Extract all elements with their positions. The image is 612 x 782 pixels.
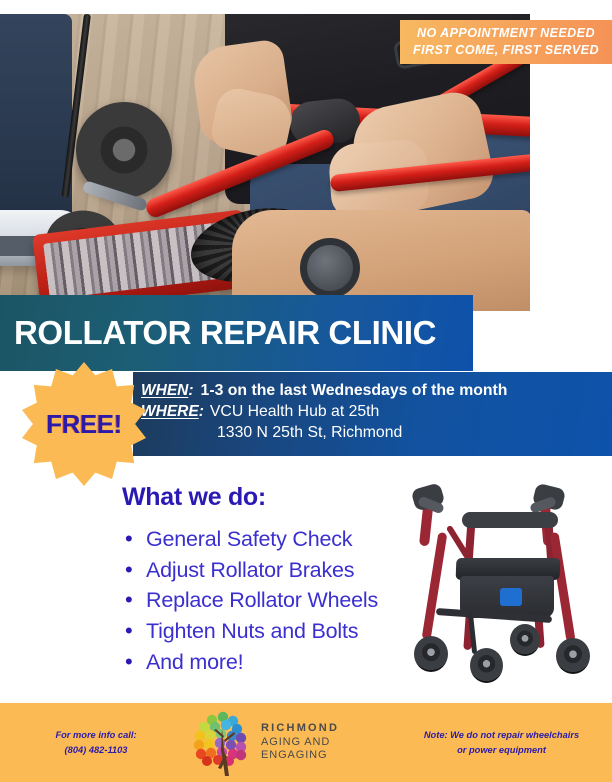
rollator-wheel-1 — [414, 636, 448, 672]
where-address: 1330 N 25th St, Richmond — [141, 423, 612, 444]
where-label: WHERE — [141, 402, 199, 422]
services-heading: What we do: — [122, 483, 422, 512]
rollator-backrest — [462, 512, 558, 528]
contact-block: For more info call: (804) 482-1103 — [0, 728, 192, 758]
rollator-leg-front-left — [422, 532, 448, 640]
photo-wristwatch — [300, 238, 360, 298]
note-line-1: Note: We do not repair wheelchairs — [397, 728, 606, 743]
rollator-wheel-2 — [470, 648, 503, 683]
rollator-wheel-4 — [556, 638, 590, 674]
organization-logo: RICHMOND AGING AND ENGAGING — [192, 710, 397, 776]
tree-logo-icon — [192, 710, 254, 776]
when-value: 1-3 on the last Wednesdays of the month — [194, 381, 508, 402]
banner-line-2: FIRST COME, FIRST SERVED — [413, 43, 599, 58]
list-item: Replace Rollator Wheels — [122, 585, 422, 616]
list-item: And more! — [122, 647, 422, 678]
contact-phone[interactable]: (804) 482-1103 — [0, 743, 192, 758]
disclaimer-note: Note: We do not repair wheelchairs or po… — [397, 728, 612, 758]
services-section: What we do: General Safety Check Adjust … — [122, 483, 422, 678]
contact-label: For more info call: — [0, 728, 192, 743]
banner-line-1: NO APPOINTMENT NEEDED — [417, 26, 595, 41]
rollator-bag-logo — [500, 588, 522, 606]
free-starburst-badge: FREE! — [22, 362, 146, 486]
list-item: Tighten Nuts and Bolts — [122, 616, 422, 647]
rollator-product-image — [408, 484, 606, 689]
when-row: WHEN : 1-3 on the last Wednesdays of the… — [141, 381, 612, 402]
page-title: ROLLATOR REPAIR CLINIC — [0, 314, 436, 352]
services-list: General Safety Check Adjust Rollator Bra… — [122, 524, 422, 678]
no-appointment-banner: NO APPOINTMENT NEEDED FIRST COME, FIRST … — [400, 20, 612, 64]
where-value: VCU Health Hub at 25th — [204, 402, 379, 423]
free-badge-label: FREE! — [46, 409, 122, 440]
list-item: General Safety Check — [122, 524, 422, 555]
list-item: Adjust Rollator Brakes — [122, 555, 422, 586]
event-details-bar: WHEN : 1-3 on the last Wednesdays of the… — [133, 372, 612, 456]
logo-wordmark: RICHMOND AGING AND ENGAGING — [261, 722, 397, 762]
where-row: WHERE : VCU Health Hub at 25th — [141, 402, 612, 423]
footer-bar: For more info call: (804) 482-1103 — [0, 703, 612, 782]
when-label: WHEN — [141, 381, 188, 401]
logo-line-1: RICHMOND — [261, 722, 397, 735]
logo-line-2: AGING AND ENGAGING — [261, 736, 397, 763]
rollator-wheel-3 — [510, 624, 540, 656]
note-line-2: or power equipment — [397, 743, 606, 758]
title-bar: ROLLATOR REPAIR CLINIC — [0, 295, 473, 371]
